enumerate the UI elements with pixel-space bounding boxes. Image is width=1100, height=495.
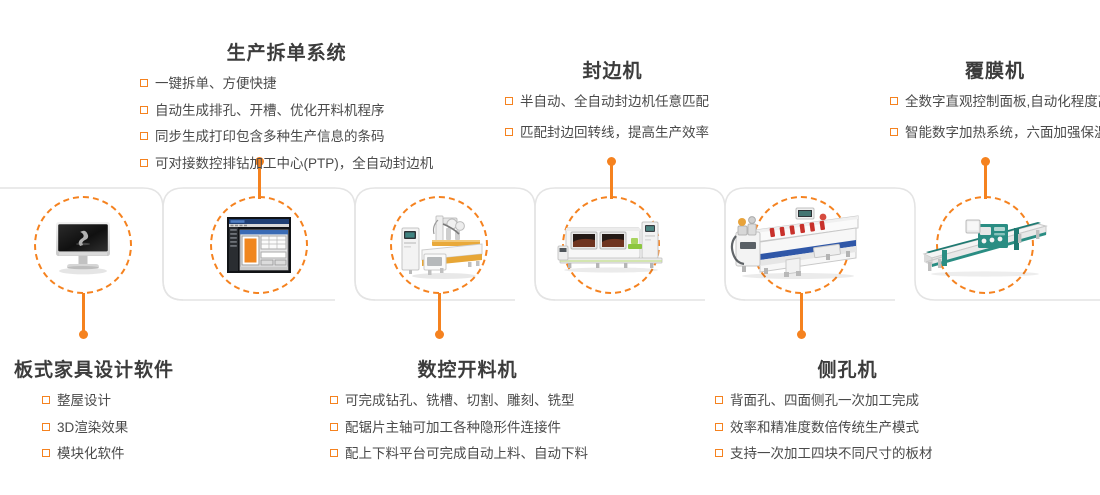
block-title-design-software: 板式家具设计软件 <box>14 355 174 382</box>
block-title-order-splitting: 生产拆单系统 <box>140 38 433 65</box>
list-item: 3D渲染效果 <box>42 418 174 438</box>
text-block-side-hole-drilling: 侧孔机 背面孔、四面侧孔一次加工完成 效率和精准度数倍传统生产模式 支持一次加工… <box>715 355 980 464</box>
text-block-laminating: 覆膜机 全数字直观控制面板,自动化程度高 智能数字加热系统，六面加强保温 <box>890 56 1100 142</box>
bullet-square-icon <box>140 159 148 167</box>
text-block-design-software: 板式家具设计软件 整屋设计 3D渲染效果 模块化软件 <box>14 355 174 464</box>
block-title-cnc-cutting: 数控开料机 <box>330 355 605 382</box>
node-edge-banding <box>562 196 660 294</box>
bullet-square-icon <box>890 128 898 136</box>
list-item: 一键拆单、方便快捷 <box>140 74 433 94</box>
bullet-square-icon <box>330 396 338 404</box>
stem-dot-design-software <box>79 330 88 339</box>
node-side-hole-drilling <box>752 196 850 294</box>
list-item: 支持一次加工四块不同尺寸的板材 <box>715 444 980 464</box>
list-item: 全数字直观控制面板,自动化程度高 <box>890 92 1100 112</box>
bullet-square-icon <box>42 423 50 431</box>
stem-laminating <box>984 161 987 199</box>
bullet-square-icon <box>890 97 898 105</box>
text-block-cnc-cutting: 数控开料机 可完成钻孔、铣槽、切割、雕刻、铣型 配锯片主轴可加工各种隐形件连接件… <box>330 355 605 464</box>
text-block-order-splitting: 生产拆单系统 一键拆单、方便快捷 自动生成排孔、开槽、优化开料机程序 同步生成打… <box>140 38 433 173</box>
stem-dot-side-hole-drilling <box>797 330 806 339</box>
bullet-square-icon <box>330 449 338 457</box>
list-item: 同步生成打印包含多种生产信息的条码 <box>140 127 433 147</box>
bullet-list-side-hole-drilling: 背面孔、四面侧孔一次加工完成 效率和精准度数倍传统生产模式 支持一次加工四块不同… <box>715 391 980 464</box>
node-order-splitting <box>210 196 308 294</box>
list-item: 可完成钻孔、铣槽、切割、雕刻、铣型 <box>330 391 605 411</box>
bullet-list-laminating: 全数字直观控制面板,自动化程度高 智能数字加热系统，六面加强保温 <box>890 92 1100 142</box>
bullet-square-icon <box>715 449 723 457</box>
stem-edge-banding <box>610 161 613 199</box>
bullet-square-icon <box>140 132 148 140</box>
bullet-square-icon <box>505 97 513 105</box>
bullet-square-icon <box>140 79 148 87</box>
stem-dot-cnc-cutting <box>435 330 444 339</box>
list-item: 半自动、全自动封边机任意匹配 <box>505 92 720 112</box>
bullet-list-cnc-cutting: 可完成钻孔、铣槽、切割、雕刻、铣型 配锯片主轴可加工各种隐形件连接件 配上下料平… <box>330 391 605 464</box>
bullet-square-icon <box>140 106 148 114</box>
list-item: 匹配封边回转线，提高生产效率 <box>505 123 720 143</box>
list-item: 整屋设计 <box>42 391 174 411</box>
text-block-edge-banding: 封边机 半自动、全自动封边机任意匹配 匹配封边回转线，提高生产效率 <box>505 56 720 142</box>
bullet-square-icon <box>715 396 723 404</box>
node-design-software <box>34 196 132 294</box>
infographic-canvas: 生产拆单系统 一键拆单、方便快捷 自动生成排孔、开槽、优化开料机程序 同步生成打… <box>0 0 1100 495</box>
bullet-list-design-software: 整屋设计 3D渲染效果 模块化软件 <box>42 391 174 464</box>
list-item: 自动生成排孔、开槽、优化开料机程序 <box>140 101 433 121</box>
bullet-square-icon <box>330 423 338 431</box>
bullet-list-edge-banding: 半自动、全自动封边机任意匹配 匹配封边回转线，提高生产效率 <box>505 92 720 142</box>
list-item: 可对接数控排钻加工中心(PTP)，全自动封边机 <box>140 154 433 174</box>
block-title-edge-banding: 封边机 <box>505 56 720 83</box>
list-item: 模块化软件 <box>42 444 174 464</box>
node-cnc-cutting <box>390 196 488 294</box>
stem-cnc-cutting <box>438 293 441 333</box>
bullet-square-icon <box>715 423 723 431</box>
stem-side-hole-drilling <box>800 293 803 333</box>
bullet-square-icon <box>42 396 50 404</box>
bullet-square-icon <box>505 128 513 136</box>
stem-design-software <box>82 293 85 333</box>
list-item: 背面孔、四面侧孔一次加工完成 <box>715 391 980 411</box>
block-title-side-hole-drilling: 侧孔机 <box>715 355 980 382</box>
list-item: 配锯片主轴可加工各种隐形件连接件 <box>330 418 605 438</box>
node-laminating <box>936 196 1034 294</box>
bullet-square-icon <box>42 449 50 457</box>
bullet-list-order-splitting: 一键拆单、方便快捷 自动生成排孔、开槽、优化开料机程序 同步生成打印包含多种生产… <box>140 74 433 173</box>
list-item: 效率和精准度数倍传统生产模式 <box>715 418 980 438</box>
list-item: 配上下料平台可完成自动上料、自动下料 <box>330 444 605 464</box>
list-item: 智能数字加热系统，六面加强保温 <box>890 123 1100 143</box>
block-title-laminating: 覆膜机 <box>890 56 1100 83</box>
